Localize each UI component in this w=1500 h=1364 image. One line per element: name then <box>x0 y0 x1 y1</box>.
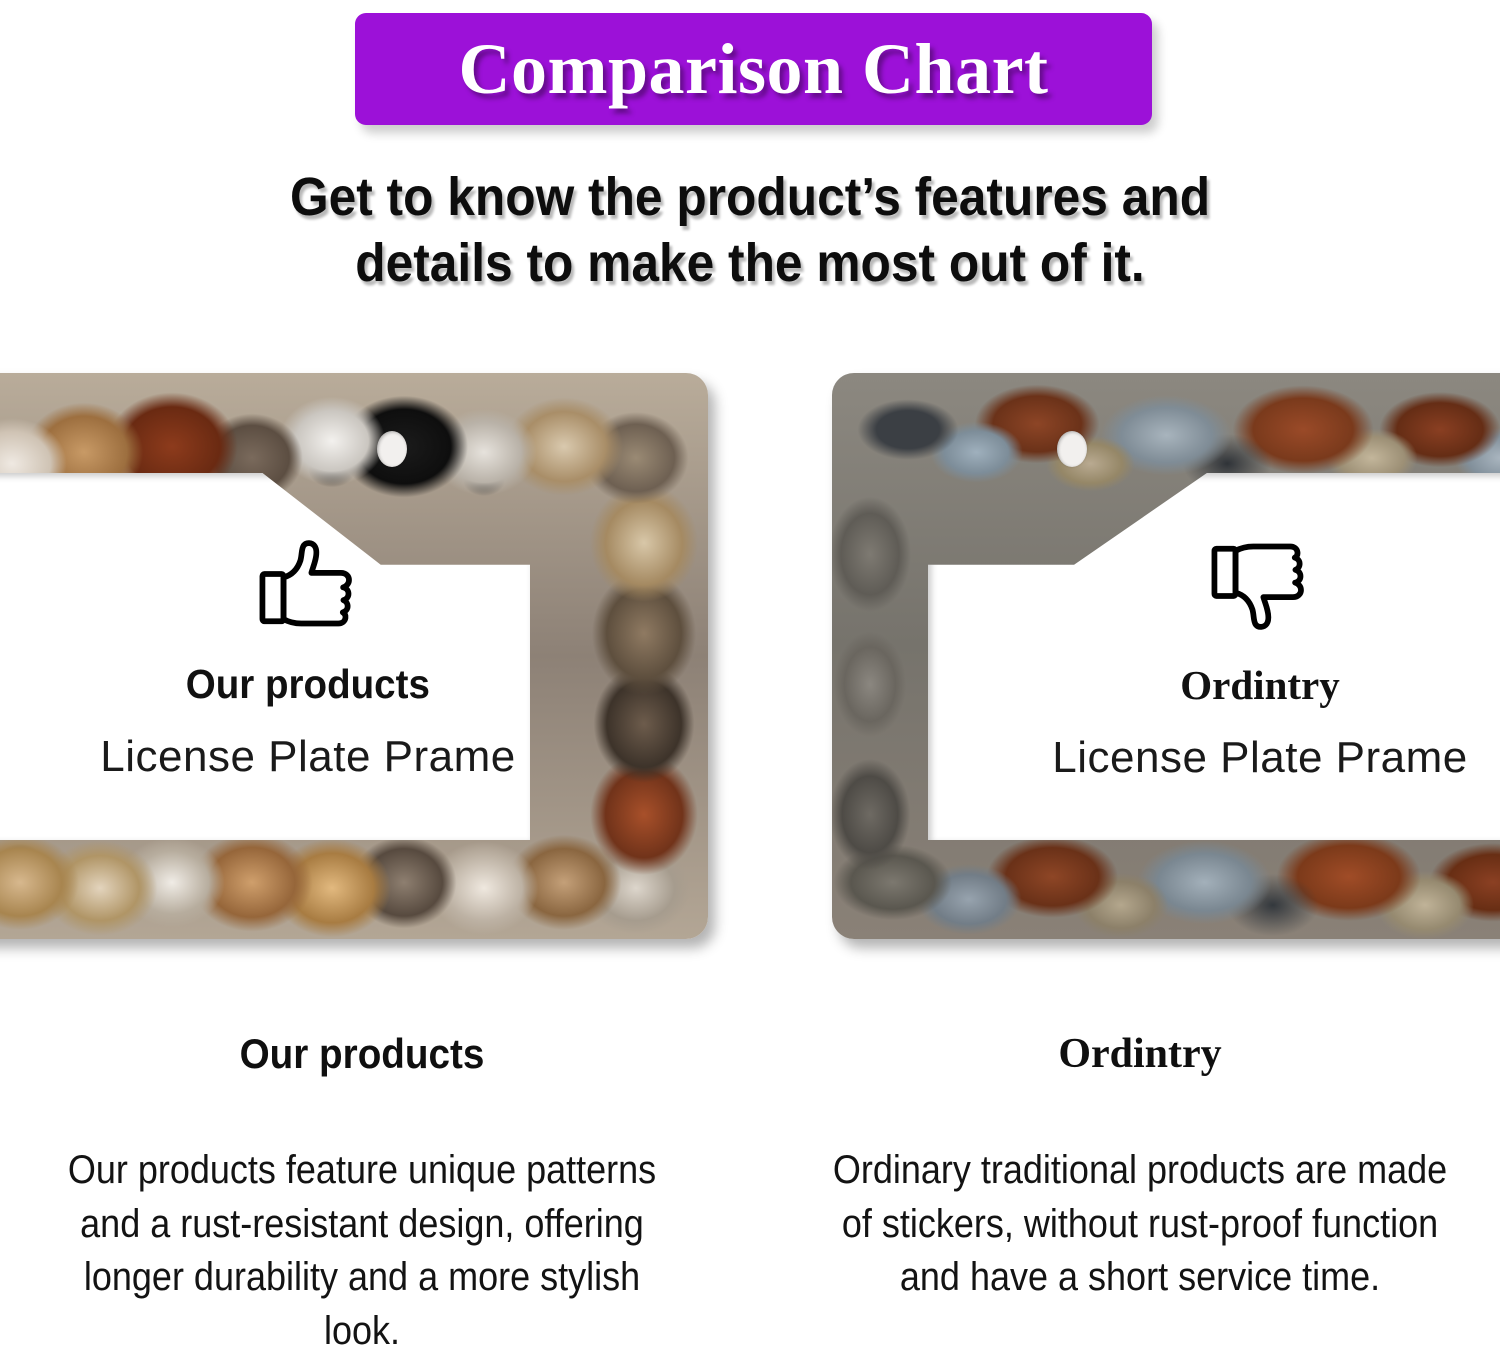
left-column-body: Our products feature unique patterns and… <box>47 1144 677 1358</box>
description-columns: Our products Our products feature unique… <box>0 1030 1500 1364</box>
ordintry-frame: Ordintry License Plate Prame <box>832 373 1500 939</box>
screw-hole-left-frame <box>377 431 407 467</box>
screw-hole-right-frame <box>1057 431 1087 467</box>
subtitle-line-2: details to make the most out of it. <box>60 231 1440 297</box>
our-products-frame: Our products License Plate Prame <box>0 373 708 939</box>
comparison-chart-page: Comparison Chart Get to know the product… <box>0 0 1500 1364</box>
title-banner: Comparison Chart <box>355 13 1152 125</box>
frame-plate-right <box>832 373 1500 939</box>
right-column-heading: Ordintry <box>790 1030 1490 1078</box>
left-description-column: Our products Our products feature unique… <box>12 1030 712 1358</box>
left-column-heading: Our products <box>40 1030 684 1078</box>
subtitle: Get to know the product’s features and d… <box>60 165 1440 297</box>
frame-plate-left <box>0 373 708 939</box>
right-description-column: Ordintry Ordinary traditional products a… <box>790 1030 1490 1305</box>
page-title: Comparison Chart <box>458 33 1048 105</box>
subtitle-line-1: Get to know the product’s features and <box>60 165 1440 231</box>
product-frames-row: Our products License Plate Prame Ordintr… <box>0 373 1500 939</box>
right-column-body: Ordinary traditional products are made o… <box>825 1144 1455 1305</box>
